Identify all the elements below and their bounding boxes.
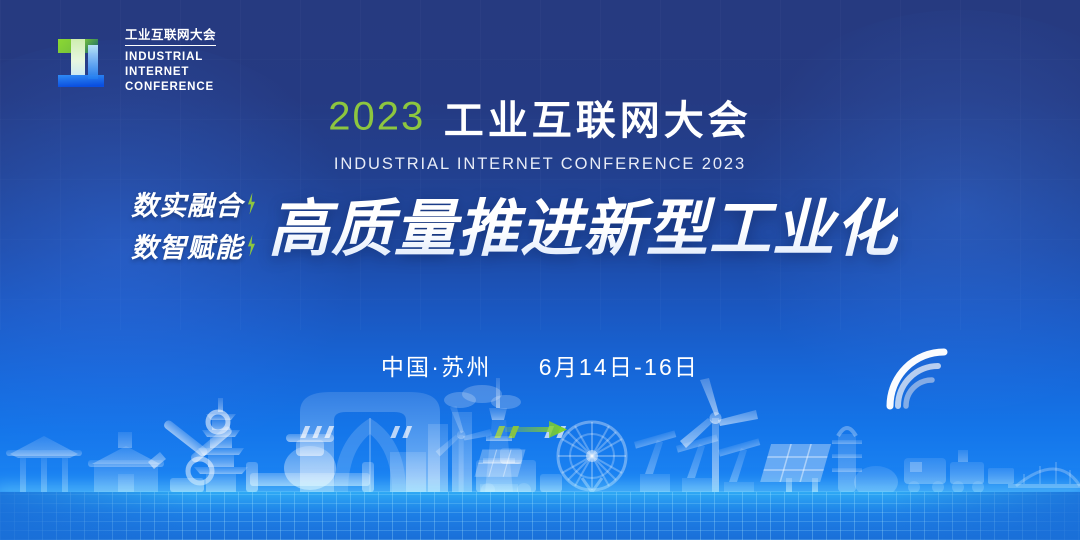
dateline-dates: 6月14日-16日 xyxy=(539,354,699,380)
logo-text-block: 工业互联网大会 INDUSTRIAL INTERNET CONFERENCE xyxy=(125,28,216,95)
ground-edge-fade xyxy=(0,492,1080,540)
logo-lockup: 工业互联网大会 INDUSTRIAL INTERNET CONFERENCE xyxy=(52,28,216,95)
city-scene xyxy=(0,390,1080,540)
title-english-subtitle: INDUSTRIAL INTERNET CONFERENCE 2023 xyxy=(0,155,1080,174)
slogan-secondary: 数实融合 数智赋能 xyxy=(131,184,258,265)
title-block: 2023 工业互联网大会 INDUSTRIAL INTERNET CONFERE… xyxy=(0,88,1080,174)
industrial-internet-conference-logo-icon xyxy=(52,31,114,93)
freight-train-icon xyxy=(904,450,1014,493)
slogan-headline: 高质量推进新型工业化 xyxy=(268,178,898,268)
gate-of-the-orient-icon xyxy=(300,392,440,492)
ferris-wheel-icon xyxy=(558,422,626,492)
lightning-bolt-icon xyxy=(246,235,257,257)
title-chinese: 工业互联网大会 xyxy=(444,99,752,143)
skyline-silhouette xyxy=(0,378,1080,496)
slogan-secondary-line-1: 数实融合 xyxy=(131,184,258,223)
dateline-location: 中国·苏州 xyxy=(381,354,492,380)
smoke-cloud xyxy=(444,385,521,409)
lightning-bolt-icon xyxy=(246,193,257,215)
storage-tanks-icon xyxy=(832,428,898,496)
oil-pumpjacks-icon xyxy=(634,430,760,496)
title-year: 2023 xyxy=(328,95,425,139)
slogan-block: 数实融合 数智赋能 高质量推进新型工业化 xyxy=(0,178,1080,288)
slogan-line1-text: 数实融合 xyxy=(131,184,243,223)
slogan-line2-text: 数智赋能 xyxy=(131,226,243,265)
logo-chinese-name: 工业互联网大会 xyxy=(125,29,216,46)
logo-en-line-2: INTERNET xyxy=(125,65,216,80)
conference-banner: 工业互联网大会 INDUSTRIAL INTERNET CONFERENCE 2… xyxy=(0,0,1080,540)
traditional-hall-icon xyxy=(88,432,164,492)
slogan-secondary-line-2: 数智赋能 xyxy=(131,226,258,265)
logo-en-line-1: INDUSTRIAL xyxy=(125,50,216,65)
dateline: 中国·苏州 6月14日-16日 xyxy=(0,348,1080,382)
bridge-icon xyxy=(1008,462,1080,488)
title-main-row: 2023 工业互联网大会 xyxy=(0,88,1080,146)
pavilion-icon xyxy=(6,436,82,492)
